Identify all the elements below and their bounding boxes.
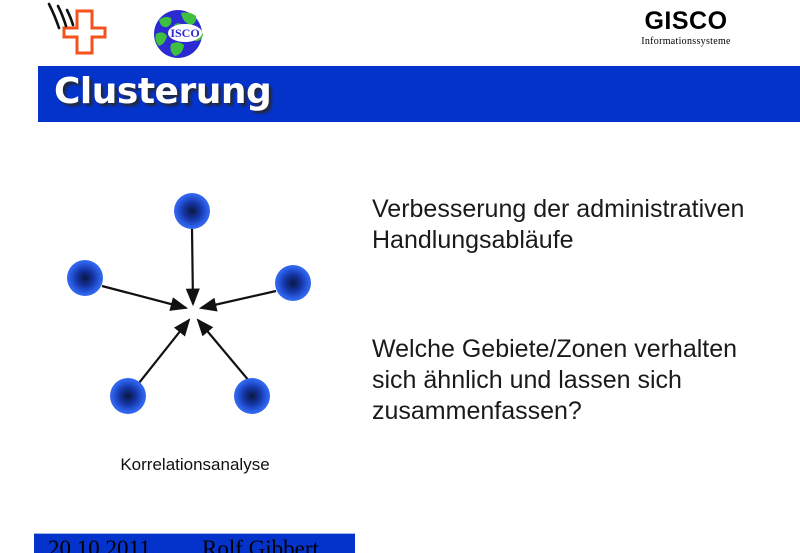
diagram-node-right xyxy=(275,265,311,301)
correlation-diagram: Korrelationsanalyse xyxy=(20,170,370,490)
brand-block: GISCO Informationssysteme xyxy=(586,6,786,48)
page-title: Clusterung xyxy=(54,71,271,112)
brand-subtitle: Informationssysteme xyxy=(586,36,786,48)
slide-canvas: ISCO GISCO Informationssysteme Clusterun… xyxy=(0,0,800,553)
globe-logo: ISCO xyxy=(151,8,207,60)
diagram-nodes xyxy=(67,193,311,414)
diagram-caption: Korrelationsanalyse xyxy=(20,455,370,475)
body-paragraph-2: Welche Gebiete/Zonen verhalten sich ähnl… xyxy=(372,334,772,427)
diagram-node-left xyxy=(67,260,103,296)
correlation-diagram-svg xyxy=(20,170,370,460)
footer-date: 20.10.2011 xyxy=(48,536,151,553)
diagram-node-bottom-right xyxy=(234,378,270,414)
body-paragraph-1: Verbesserung der administrativen Handlun… xyxy=(372,194,772,256)
signal-cross-logo xyxy=(45,2,123,60)
slide-header: ISCO GISCO Informationssysteme xyxy=(0,0,800,66)
diagram-edges xyxy=(102,228,276,388)
footer-author: Rolf Gibbert xyxy=(202,536,319,553)
slide-footer: 20.10.2011 Rolf Gibbert xyxy=(34,533,355,553)
globe-logo-label: ISCO xyxy=(170,26,199,40)
brand-name: GISCO xyxy=(586,6,786,36)
diagram-node-bottom-left xyxy=(110,378,146,414)
slide-title-bar: Clusterung xyxy=(38,66,800,122)
diagram-node-top xyxy=(174,193,210,229)
